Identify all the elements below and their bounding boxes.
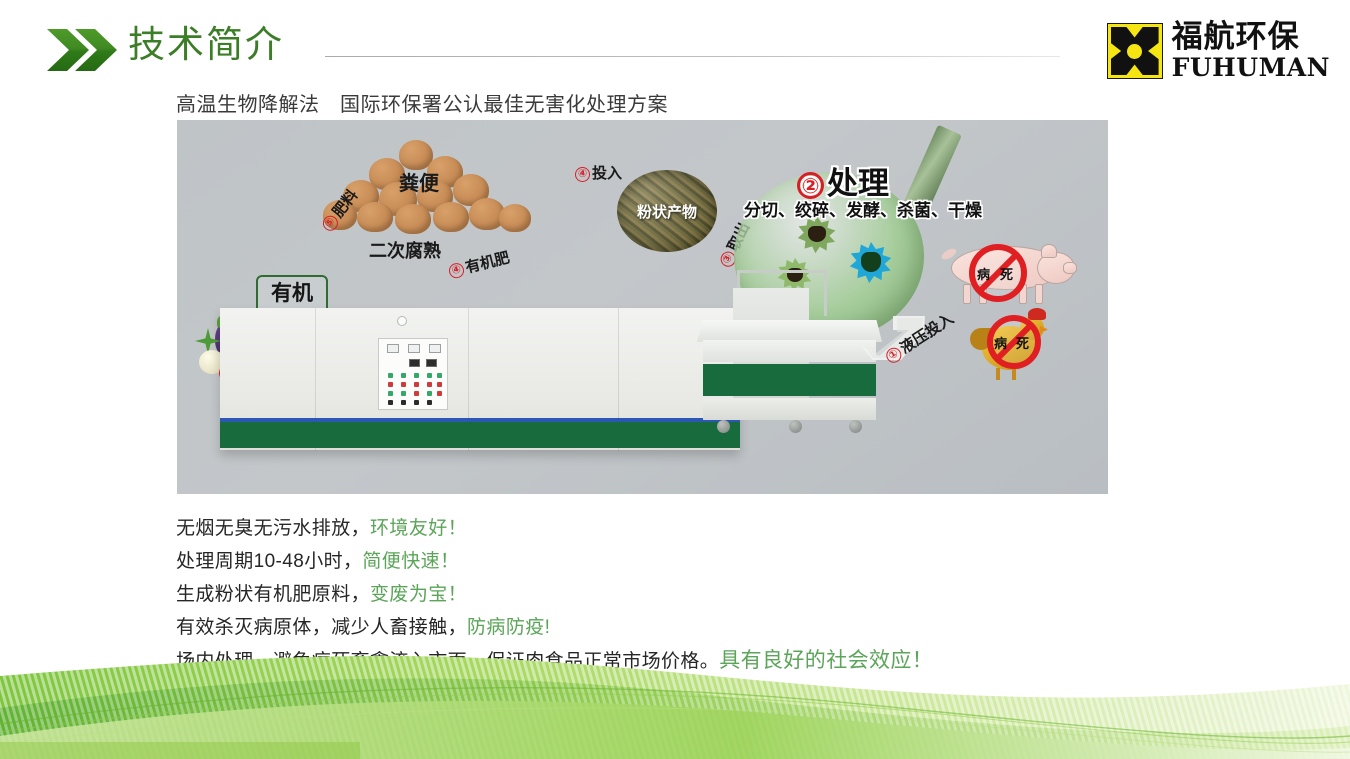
brand-name-en: FUHUMAN [1172,55,1330,80]
treatment-machine-body [220,308,740,450]
powder-product-label: 粉状产物 [617,201,717,222]
list-item: 无烟无臭无污水排放，环境友好！ [176,512,1176,545]
list-item: 生成粉状有机肥原料，变废为宝！ [176,578,1176,611]
step4-organic-text: 有机肥 [464,249,512,276]
page-title: 技术简介 [128,22,284,68]
germ-mouth-3 [861,252,881,272]
bullet-highlight-3: 变废为宝！ [370,584,467,605]
brand-name-cn: 福航环保 [1172,22,1330,53]
fuhuman-logo-icon [1107,23,1163,79]
green-wave-ribbon-decoration [0,624,1350,759]
bullet-plain-1: 无烟无臭无污水排放， [176,518,370,539]
process-diagram-image: 粪便 ④投入 ⑤肥料 二次腐熟 ④有机肥 有机肥 粉 [177,120,1108,494]
bullet-highlight-2: 简便快速！ [362,551,459,572]
slide-canvas: 技术简介 福航环保 FUHUMAN 高温生物降解法 国际环保署公认最佳无害化处理… [0,0,1350,759]
step4-organic-label: ④有机肥 [446,246,511,281]
title-divider [325,56,1060,57]
manure-label: 粪便 [399,167,439,196]
machine-green-stripe [220,422,740,448]
second-compost-label: 二次腐熟 [369,237,441,263]
subtitle-text: 高温生物降解法 国际环保署公认最佳无害化处理方案 [176,88,668,117]
step-number-4-organic: ④ [447,262,465,280]
bullet-plain-2: 处理周期10-48小时， [176,551,362,572]
chicken-ban-text: 病死 [994,333,1038,352]
pig-ban-text: 病死 [977,264,1023,283]
bullet-plain-3: 生成粉状有机肥原料， [176,584,370,605]
double-chevron-right-icon [47,27,119,73]
list-item: 处理周期10-48小时，简便快速！ [176,545,1176,578]
brand-logo: 福航环保 FUHUMAN [1107,22,1330,80]
step4-input-text: 投入 [592,165,622,182]
bullet-highlight-1: 环境友好！ [370,518,467,539]
step4-input-label: ④投入 [575,162,622,183]
step-number-4: ④ [575,167,590,182]
step2-subtitle: 分切、绞碎、发酵、杀菌、干燥 [744,196,982,221]
control-panel-icon [378,338,448,410]
machine-knob-icon [398,317,406,325]
germ-mouth-1 [808,226,826,242]
